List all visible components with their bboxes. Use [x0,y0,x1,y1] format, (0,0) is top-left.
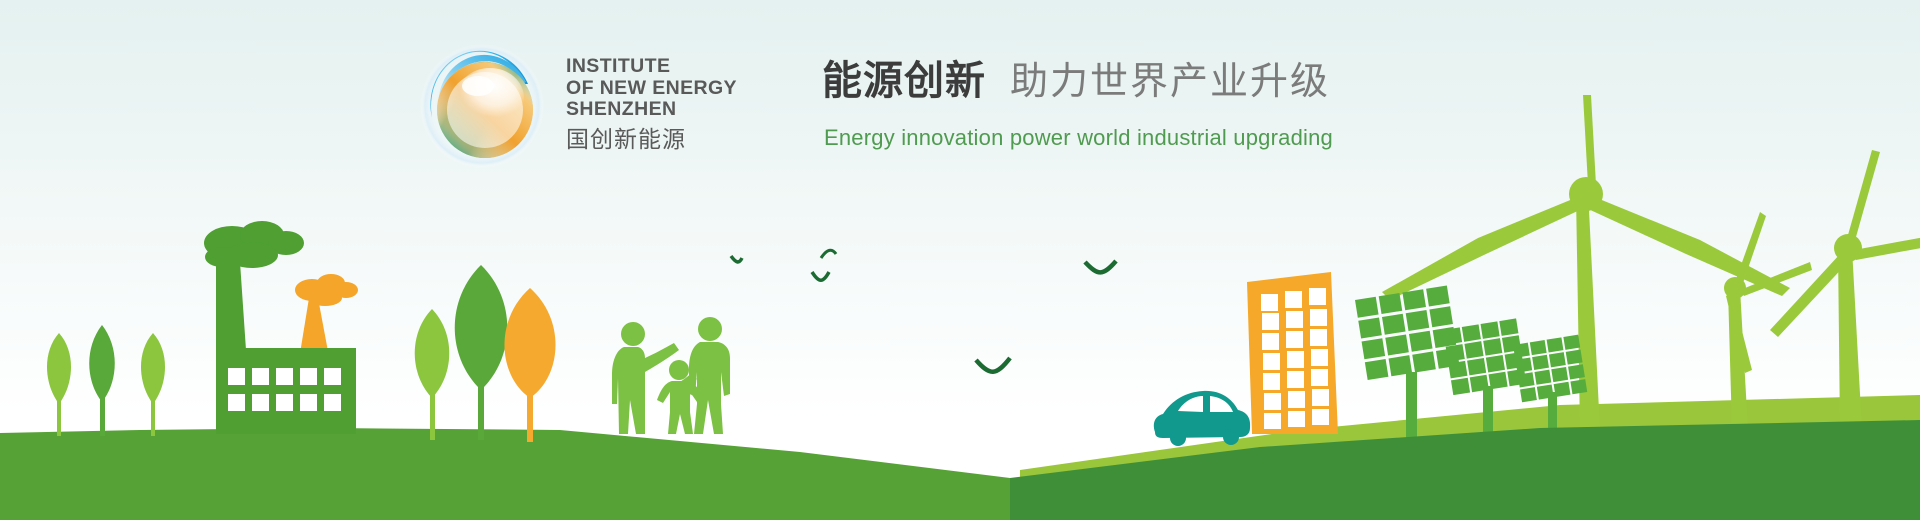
logo-line-2: OF NEW ENERGY [566,78,766,100]
factory-base [216,348,356,434]
headline-subtitle-english: Energy innovation power world industrial… [824,125,1333,151]
office-building [1247,272,1338,434]
brand-header: INSTITUTE OF NEW ENERGY SHENZHEN 国创新能源 能… [0,0,1920,200]
headline-main: 能源创新 [822,58,986,104]
sphere-swoosh-logo-icon [418,40,546,168]
headline: 能源创新助力世界产业升级 [822,48,1330,106]
logo-line-3: SHENZHEN [566,99,766,121]
headline-sub: 助力世界产业升级 [1010,59,1330,103]
logo-chinese-name: 国创新能源 [566,127,766,153]
logo-text-block: INSTITUTE OF NEW ENERGY SHENZHEN 国创新能源 [566,56,766,153]
logo[interactable]: INSTITUTE OF NEW ENERGY SHENZHEN 国创新能源 [418,40,748,175]
hero-banner: INSTITUTE OF NEW ENERGY SHENZHEN 国创新能源 能… [0,0,1920,520]
logo-line-1: INSTITUTE [566,56,766,78]
